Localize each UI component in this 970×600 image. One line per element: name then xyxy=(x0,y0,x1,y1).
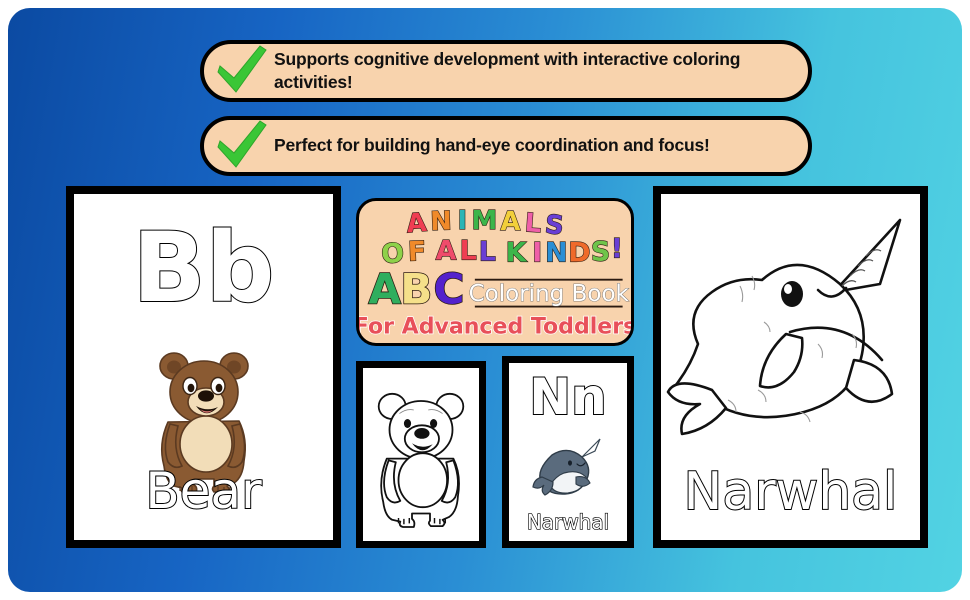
logo-letter: I xyxy=(532,237,542,268)
grey-narwhal-illustration xyxy=(532,437,604,499)
card-letter: Bb xyxy=(74,220,333,316)
promo-graphic: Supports cognitive development with inte… xyxy=(0,0,970,600)
logo-letter: D xyxy=(568,237,590,268)
logo-letter: A xyxy=(500,207,520,237)
card-letter: Nn xyxy=(509,371,627,423)
card-narwhal-small-page: Nn Narwhal xyxy=(509,363,627,541)
logo-letter: F xyxy=(407,236,426,268)
card-word: Narwhal xyxy=(509,511,627,533)
card-narwhal-large-page: Narwhal xyxy=(661,194,920,540)
book-cover-logo: A N I M A L S O F A L L K I N xyxy=(356,198,634,346)
logo-letter: N xyxy=(545,237,567,268)
logo-abc-letter: C xyxy=(433,265,464,314)
bear-line-drawing xyxy=(367,375,475,535)
logo-abc-letter: A xyxy=(368,265,401,314)
card-narwhal-large: Narwhal xyxy=(653,186,928,548)
logo-abc-letter: B xyxy=(400,265,432,314)
gradient-background-panel: Supports cognitive development with inte… xyxy=(8,8,962,592)
benefit-banner-2: Perfect for building hand-eye coordinati… xyxy=(200,116,812,176)
logo-letter: A xyxy=(405,208,428,240)
card-bear-large-page: Bb xyxy=(74,194,333,540)
card-word: Narwhal xyxy=(661,464,920,520)
logo-letter: N xyxy=(430,206,453,237)
benefit-banner-1: Supports cognitive development with inte… xyxy=(200,40,812,102)
green-check-icon xyxy=(210,115,272,177)
logo-letter: A xyxy=(436,236,457,267)
benefit-banner-2-text: Perfect for building hand-eye coordinati… xyxy=(274,134,710,157)
card-bear-outline xyxy=(356,361,486,548)
logo-letter: I xyxy=(458,206,468,236)
logo-letter: L xyxy=(524,208,543,239)
logo-letter: M xyxy=(472,206,498,236)
card-bear-outline-page xyxy=(363,368,479,541)
card-word: Bear xyxy=(74,464,333,518)
logo-letter: K xyxy=(506,237,528,268)
narwhal-line-drawing xyxy=(666,214,916,474)
book-cover-artwork: A N I M A L S O F A L L K I N xyxy=(359,201,631,343)
card-bear-large: Bb xyxy=(66,186,341,548)
logo-subtitle: Coloring Book xyxy=(469,281,630,307)
logo-tagline: For Advanced Toddlers xyxy=(359,314,631,339)
logo-letter: ! xyxy=(611,234,623,265)
logo-letter: L xyxy=(479,236,496,267)
green-check-icon xyxy=(210,40,272,102)
logo-letter: L xyxy=(460,236,477,267)
logo-letter: S xyxy=(591,236,610,267)
benefit-banner-1-text: Supports cognitive development with inte… xyxy=(274,48,792,95)
card-narwhal-small: Nn Narwhal xyxy=(502,356,634,548)
